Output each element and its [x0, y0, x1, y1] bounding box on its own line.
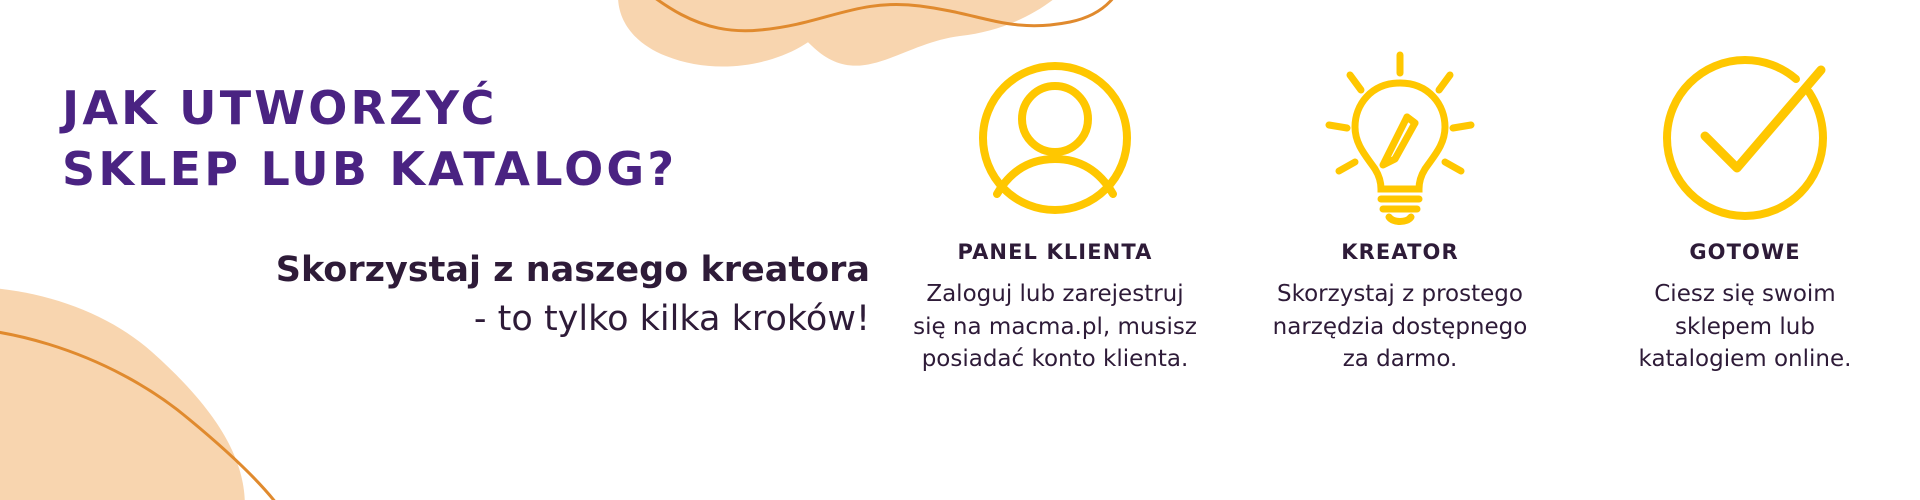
subheading-line-2: - to tylko kilka kroków!	[60, 297, 870, 342]
orange-wave-top	[610, 0, 1128, 31]
feature-description: Skorzystaj z prostego narzędzia dostępne…	[1273, 278, 1528, 376]
feature-title: KREATOR	[1341, 240, 1458, 264]
check-circle-icon	[1659, 48, 1831, 228]
feature-step-gotowe: GOTOWE Ciesz się swoim sklepem lub katal…	[1590, 48, 1900, 376]
feature-title: PANEL KLIENTA	[958, 240, 1153, 264]
subheading-line-1: Skorzystaj z naszego kreatora	[60, 248, 870, 293]
feature-steps: PANEL KLIENTA Zaloguj lub zarejestruj si…	[900, 48, 1900, 468]
subheading: Skorzystaj z naszego kreatora - to tylko…	[60, 248, 870, 342]
user-account-icon	[971, 48, 1139, 228]
lightbulb-pencil-idea-icon	[1311, 48, 1489, 228]
orange-curve-bottom-left	[0, 327, 288, 500]
promo-banner: JAK UTWORZYĆ SKLEP LUB KATALOG? Skorzyst…	[0, 0, 1920, 500]
feature-title: GOTOWE	[1689, 240, 1800, 264]
feature-description: Ciesz się swoim sklepem lub katalogiem o…	[1639, 278, 1852, 376]
peach-blob-top-lobe	[618, 0, 835, 66]
feature-step-panel-klienta: PANEL KLIENTA Zaloguj lub zarejestruj si…	[900, 48, 1210, 376]
feature-step-kreator: KREATOR Skorzystaj z prostego narzędzia …	[1245, 48, 1555, 376]
feature-description: Zaloguj lub zarejestruj się na macma.pl,…	[913, 278, 1197, 376]
page-title: JAK UTWORZYĆ SKLEP LUB KATALOG?	[62, 78, 677, 200]
